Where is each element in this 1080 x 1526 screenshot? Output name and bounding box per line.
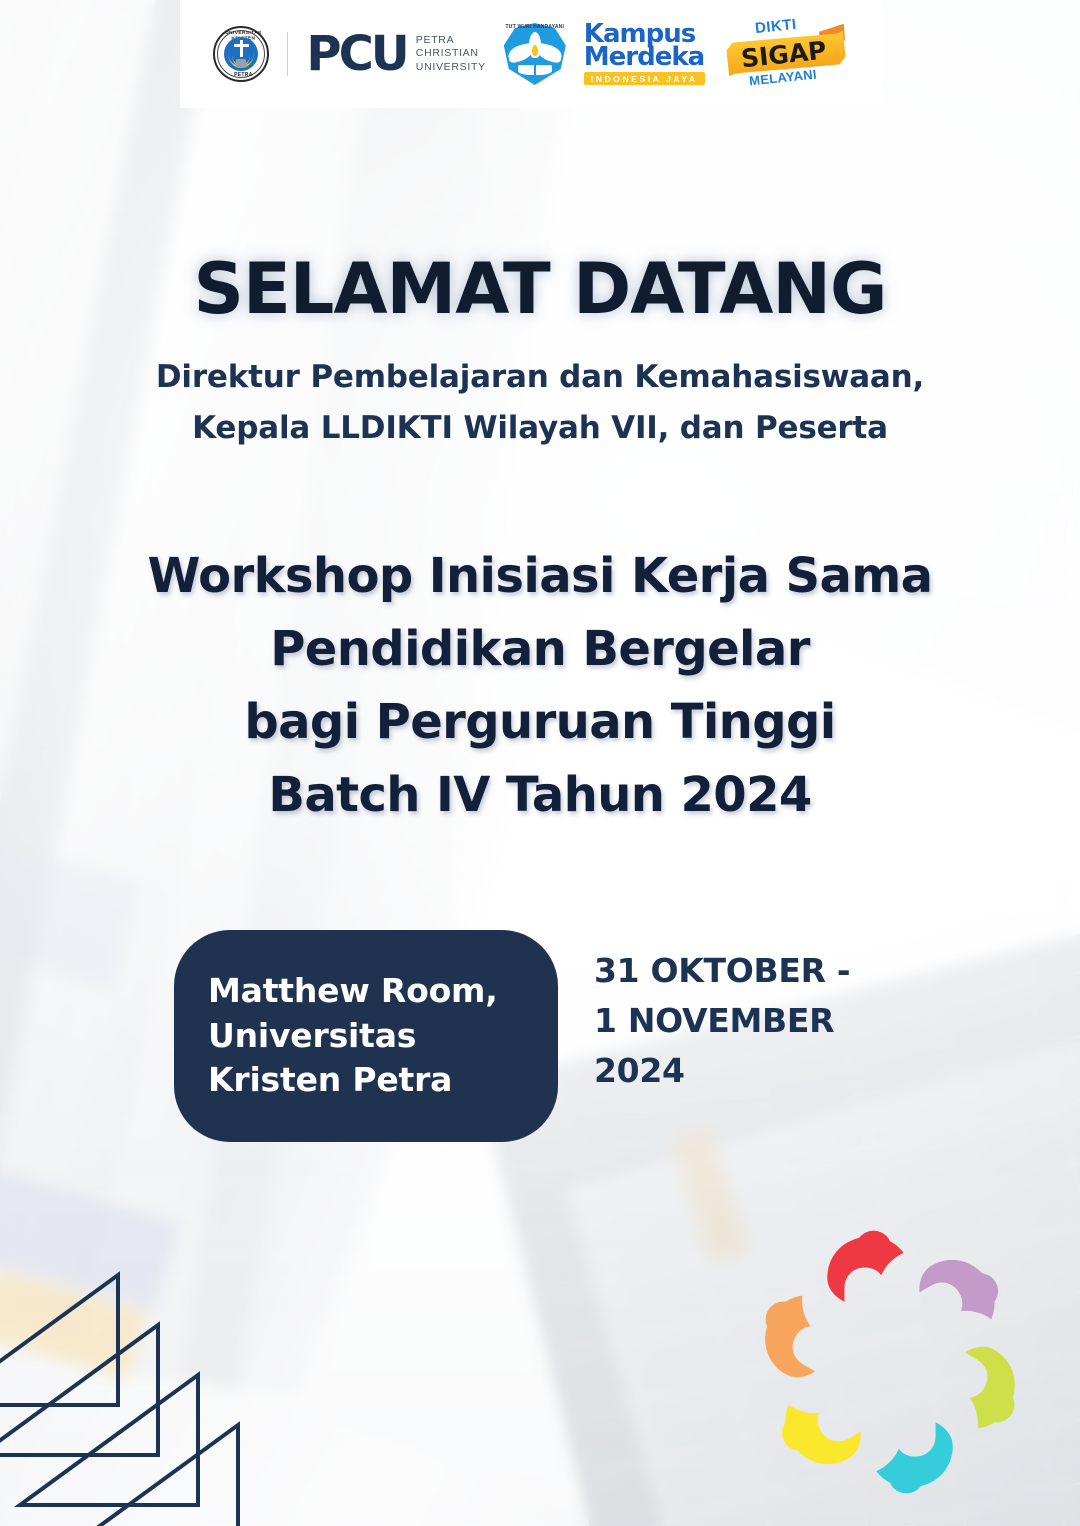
person-cyan <box>876 1422 952 1493</box>
pcu-name-line-3: UNIVERSITY <box>416 61 486 74</box>
tut-wuri-label: TUT WURI HANDAYANI <box>504 24 566 30</box>
pcu-name-line-1: PETRA <box>416 34 486 47</box>
pcu-name-line-2: CHRISTIAN <box>416 47 486 60</box>
kampus-merdeka-line-2: Merdeka <box>584 46 704 70</box>
subtitle-line-1: Direktur Pembelajaran dan Kemahasiswaan, <box>0 352 1080 403</box>
tut-wuri-handayani-icon: TUT WURI HANDAYANI <box>504 23 566 85</box>
event-title-line-2: Pendidikan Bergelar <box>0 613 1080 686</box>
triangle-decoration <box>0 1250 420 1526</box>
person-purple <box>911 1242 1011 1344</box>
venue-line-1: Matthew Room, <box>208 969 498 1014</box>
kampus-merdeka-logo: Kampus Merdeka INDONESIA JAYA <box>584 23 705 85</box>
kampus-merdeka-tagline: INDONESIA JAYA <box>584 72 705 85</box>
person-orange <box>756 1284 845 1386</box>
event-title-line-3: bagi Perguruan Tinggi <box>0 686 1080 759</box>
welcome-subtitle: Direktur Pembelajaran dan Kemahasiswaan,… <box>0 352 1080 455</box>
pcu-monogram: PCU <box>306 35 406 73</box>
people-circle-svg <box>756 1228 1024 1496</box>
pcu-wordmark-logo: PCU PETRA CHRISTIAN UNIVERSITY <box>306 34 485 74</box>
event-title-line-4: Batch IV Tahun 2024 <box>0 759 1080 832</box>
date-line-3: 2024 <box>594 1046 1014 1096</box>
poster-root: UNIVERSITAS KRISTEN PETRA PCU PETRA CHRI… <box>0 0 1080 1526</box>
logo-divider <box>287 32 288 76</box>
event-title-line-1: Workshop Inisiasi Kerja Sama <box>0 540 1080 613</box>
date-line-1: 31 OKTOBER - <box>594 946 1014 996</box>
dikti-label: DIKTI <box>754 16 797 37</box>
cascading-triangles-icon <box>0 1250 420 1526</box>
subtitle-line-2: Kepala LLDIKTI Wilayah VII, dan Peserta <box>0 403 1080 454</box>
dikti-sigap-melayani-logo: DIKTI SIGAP MELAYANI <box>723 18 849 90</box>
venue-line-3: Kristen Petra <box>208 1058 498 1103</box>
venue-pill: Matthew Room, Universitas Kristen Petra <box>174 930 558 1142</box>
people-teamwork-circle-icon <box>756 1228 1024 1496</box>
venue-line-2: Universitas <box>208 1014 498 1059</box>
logo-band: UNIVERSITAS KRISTEN PETRA PCU PETRA CHRI… <box>180 0 882 108</box>
event-title: Workshop Inisiasi Kerja Sama Pendidikan … <box>0 540 1080 832</box>
date-line-2: 1 NOVEMBER <box>594 996 1014 1046</box>
person-lime <box>935 1338 1024 1440</box>
person-yellow <box>769 1380 869 1482</box>
petra-christian-university-seal-icon: UNIVERSITAS KRISTEN PETRA <box>213 26 269 82</box>
seal-ring-text-bottom: PETRA <box>215 72 271 78</box>
event-date: 31 OKTOBER - 1 NOVEMBER 2024 <box>594 946 1014 1096</box>
person-red <box>827 1231 903 1302</box>
welcome-heading: SELAMAT DATANG <box>0 248 1080 330</box>
